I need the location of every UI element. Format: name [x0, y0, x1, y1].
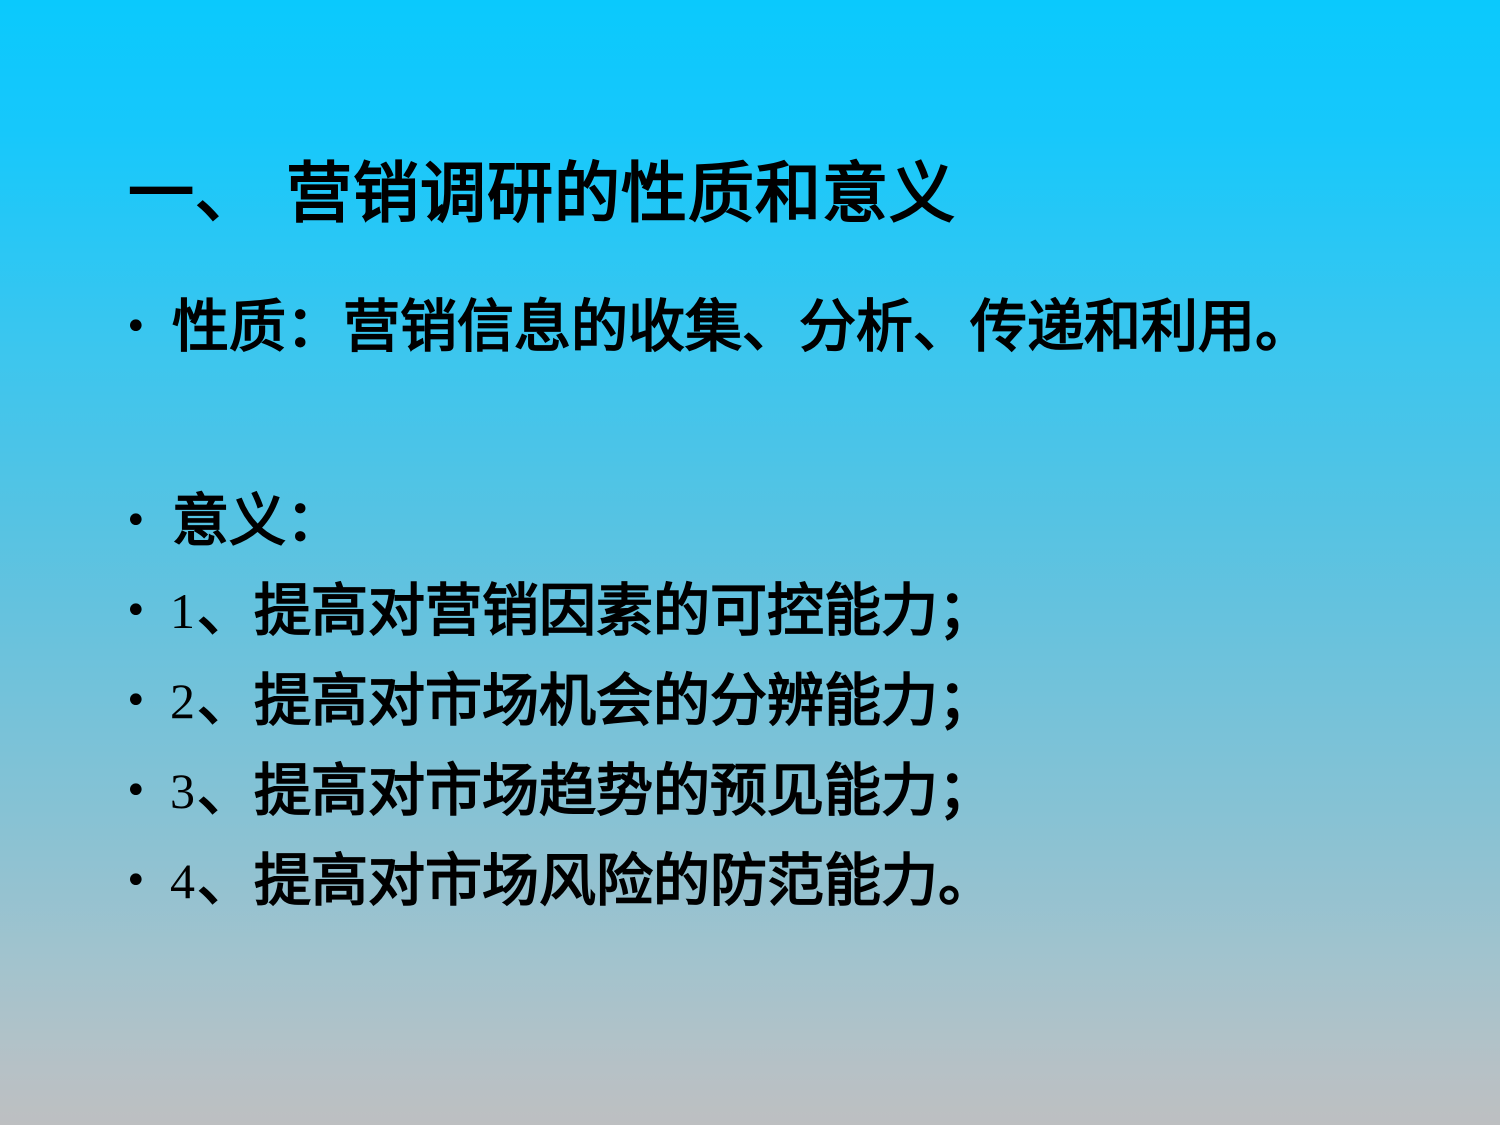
bullet-number: 4	[170, 842, 197, 920]
bullet-dot-icon: •	[118, 662, 170, 740]
bullet-item-spacer	[118, 378, 1478, 482]
bullet-number: 1	[170, 572, 197, 650]
bullet-dot-icon: •	[118, 482, 170, 560]
bullet-number: 2	[170, 662, 197, 740]
bullet-item-4: • 4 、提高对市场风险的防范能力。	[118, 842, 1478, 932]
bullet-dot-icon: •	[118, 842, 170, 920]
bullet-number: 3	[170, 752, 197, 830]
slide-title: 一、 营销调研的性质和意义	[128, 155, 956, 233]
slide-content-area: 一、 营销调研的性质和意义 • 性质：营销信息的收集、分析、传递和利用。 • 意…	[0, 0, 1500, 1125]
bullet-text: 性质：营销信息的收集、分析、传递和利用。	[172, 288, 1312, 366]
presentation-slide: 一、 营销调研的性质和意义 • 性质：营销信息的收集、分析、传递和利用。 • 意…	[0, 0, 1500, 1125]
bullet-item-significance-header: • 意义：	[118, 482, 1478, 572]
bullet-dot-icon: •	[118, 288, 170, 366]
bullet-text: 、提高对市场趋势的预见能力；	[197, 752, 995, 830]
bullet-text: 、提高对市场机会的分辨能力；	[197, 662, 995, 740]
bullet-text: 、提高对营销因素的可控能力；	[197, 572, 995, 650]
bullet-dot-icon: •	[118, 752, 170, 830]
bullet-text: 意义：	[172, 482, 343, 560]
bullet-item-1: • 1 、提高对营销因素的可控能力；	[118, 572, 1478, 662]
bullet-text: 、提高对市场风险的防范能力。	[197, 842, 995, 920]
bullet-item-nature: • 性质：营销信息的收集、分析、传递和利用。	[118, 288, 1478, 378]
bullet-item-2: • 2 、提高对市场机会的分辨能力；	[118, 662, 1478, 752]
bullet-dot-icon: •	[118, 572, 170, 650]
bullet-item-3: • 3 、提高对市场趋势的预见能力；	[118, 752, 1478, 842]
bullet-list: • 性质：营销信息的收集、分析、传递和利用。 • 意义： • 1 、提高对营销因…	[118, 288, 1478, 932]
